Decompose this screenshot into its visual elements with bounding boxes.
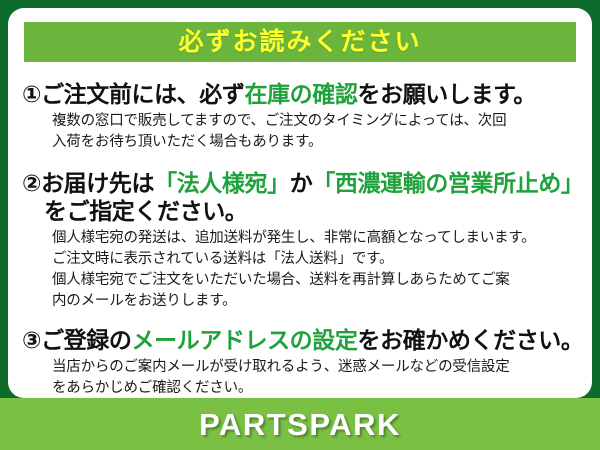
notice-item-1-body-line-2: 入荷をお待ち頂いただく場合もあります。 [52, 132, 580, 153]
notice-item-3-body: 当店からのご案内メールが受け取れるよう、迷惑メールなどの受信設定 をあらかじめご… [22, 357, 580, 398]
notice-item-3-heading-pre: ご登録の [41, 327, 131, 353]
notice-item-1-body: 複数の窓口で販売してますので、ご注文のタイミングによっては、次回 入荷をお待ち頂… [22, 111, 580, 153]
notice-item-3-heading-highlight: メールアドレスの設定 [131, 327, 357, 353]
notice-item-2-body-line-3: 個人様宅宛でご注文をいただいた場合、送料を再計算しあらためてご案 [52, 270, 580, 291]
notice-item-1-heading-pre: ご注文前には、必ず [41, 81, 244, 107]
notice-item-2-heading-highlight-2: 「西濃運輸の営業所止め」 [312, 170, 583, 196]
notice-item-2-body-line-1: 個人様宅宛の発送は、追加送料が発生し、非常に高額となってしまいます。 [52, 228, 580, 249]
notice-item-1-marker: ① [22, 81, 41, 107]
notice-item-1-body-line-1: 複数の窓口で販売してますので、ご注文のタイミングによっては、次回 [52, 111, 580, 132]
notice-item-2-body-line-4: 内のメールをお送りします。 [52, 291, 580, 312]
brand-wordmark: PARTSPARK [199, 409, 401, 440]
notice-item-2-heading-mid: か [290, 170, 313, 196]
notice-item-3-heading-post: をお確かめください。 [358, 327, 584, 353]
notice-list: ①ご注文前には、必ず在庫の確認をお願いします。 複数の窓口で販売してますので、ご… [8, 68, 592, 398]
notice-item-2-heading-line-2: をご指定ください。 [22, 197, 580, 225]
notice-panel: 必ずお読みください ①ご注文前には、必ず在庫の確認をお願いします。 複数の窓口で… [8, 8, 592, 398]
notice-item-1: ①ご注文前には、必ず在庫の確認をお願いします。 複数の窓口で販売してますので、ご… [22, 80, 580, 153]
title-banner: 必ずお読みください [24, 22, 576, 62]
notice-item-2-heading: ②お届け先は「法人様宛」か「西濃運輸の営業所止め」 [22, 169, 580, 197]
notice-item-3-heading: ③ご登録のメールアドレスの設定をお確かめください。 [22, 326, 580, 354]
notice-item-2-marker: ② [22, 170, 41, 196]
notice-title: 必ずお読みください [178, 30, 421, 55]
notice-item-2-body: 個人様宅宛の発送は、追加送料が発生し、非常に高額となってしまいます。 ご注文時に… [22, 228, 580, 312]
notice-item-1-heading-highlight: 在庫の確認 [244, 81, 357, 107]
notice-item-3-body-line-2: をあらかじめご確認ください。 [52, 378, 580, 398]
notice-item-1-heading: ①ご注文前には、必ず在庫の確認をお願いします。 [22, 80, 580, 108]
notice-item-2-body-line-2: ご注文時に表示されている送料は「法人送料」です。 [52, 249, 580, 270]
notice-item-2-heading-pre: お届け先は [41, 170, 154, 196]
notice-item-2: ②お届け先は「法人様宛」か「西濃運輸の営業所止め」 をご指定ください。 個人様宅… [22, 169, 580, 312]
notice-card: 必ずお読みください ①ご注文前には、必ず在庫の確認をお願いします。 複数の窓口で… [0, 0, 600, 450]
footer-brand-band: PARTSPARK [0, 398, 600, 450]
notice-item-3: ③ご登録のメールアドレスの設定をお確かめください。 当店からのご案内メールが受け… [22, 326, 580, 398]
notice-item-3-marker: ③ [22, 327, 41, 353]
notice-item-2-heading-highlight: 「法人様宛」 [154, 170, 290, 196]
notice-item-1-heading-post: をお願いします。 [358, 81, 537, 107]
notice-item-3-body-line-1: 当店からのご案内メールが受け取れるよう、迷惑メールなどの受信設定 [52, 357, 580, 378]
